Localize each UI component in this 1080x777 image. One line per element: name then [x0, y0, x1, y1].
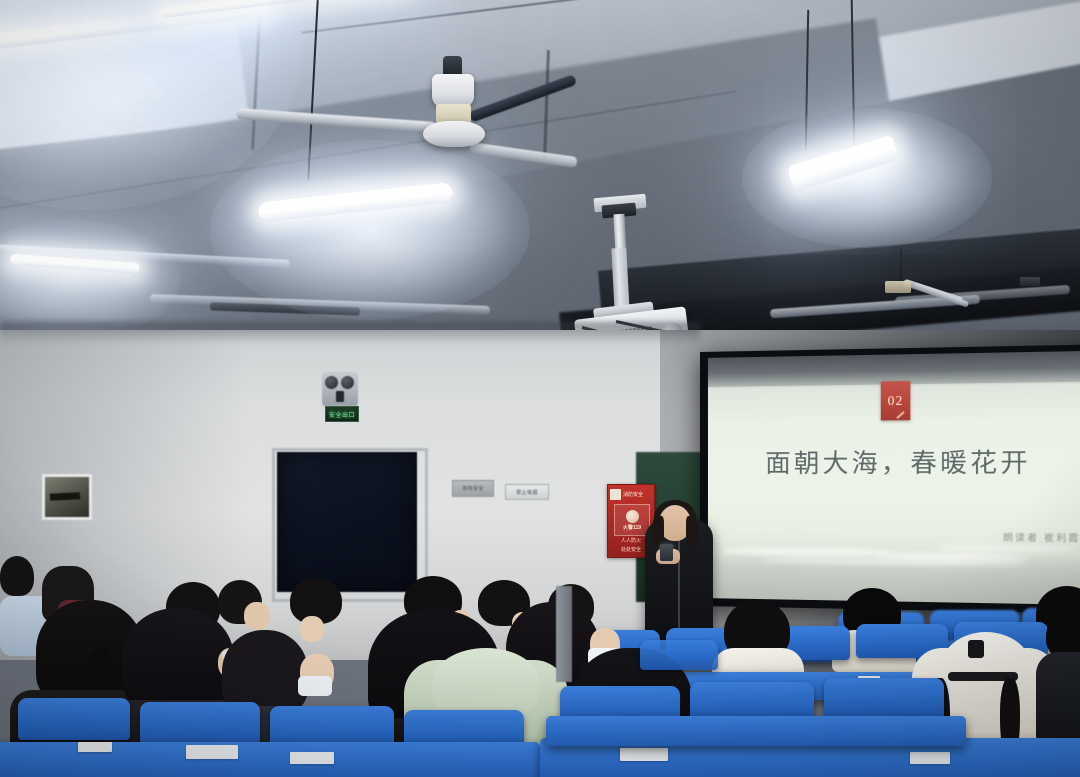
exit-sign-label: 安全出口: [329, 410, 355, 419]
person-torso: [1036, 652, 1080, 742]
poster-header-label: 消防安全: [623, 491, 643, 498]
chair-back[interactable]: [824, 678, 944, 718]
projection-screen-surface: 02 面朝大海，春暖花开 朗读者 崔利霞: [708, 351, 1080, 605]
ceiling-mount-bracket: [1020, 277, 1040, 286]
poster-slogan-1: 人人防火: [621, 537, 641, 544]
chair-back[interactable]: [18, 698, 130, 740]
poster-header: 消防安全: [610, 488, 652, 501]
wall-plaque-2-label: 禁止吸烟: [516, 489, 538, 496]
person-face: [300, 616, 324, 642]
emergency-lamp-right-icon: [341, 376, 354, 389]
presenter-smartphone: [660, 544, 673, 561]
slide-number-badge: 02: [881, 381, 911, 420]
face-mask: [298, 676, 332, 696]
desk-paper: [290, 752, 334, 764]
fan-hub: [423, 121, 485, 147]
projection-screen: 02 面朝大海，春暖花开 朗读者 崔利霞: [700, 344, 1080, 613]
person-hair: [0, 556, 34, 596]
lecture-hall-photo: 用电安全 禁止吸烟 安全出口 消防安全 火警119 人人防火 处处安全: [0, 0, 1080, 777]
fixture-housing: [885, 281, 911, 293]
emergency-lamp-left-icon: [325, 376, 338, 389]
wall-plaque-1: 用电安全: [452, 480, 494, 497]
person-face: [244, 602, 270, 630]
desk-paper: [910, 752, 950, 764]
slide-seascape-image: [708, 540, 1080, 605]
wall-plaque-1-label: 用电安全: [462, 485, 484, 492]
desk[interactable]: [546, 716, 966, 746]
desk-paper: [78, 742, 112, 752]
exit-sign: 安全出口: [325, 406, 359, 422]
support-pillar: [556, 586, 572, 682]
person-hood: [432, 648, 540, 718]
sea-wave: [723, 547, 896, 558]
hood-logo-icon: [968, 640, 984, 658]
poster-slogan-2: 处处安全: [621, 546, 641, 553]
classroom-door[interactable]: [277, 452, 417, 592]
chair-back[interactable]: [140, 702, 260, 744]
slide-title: 面朝大海，春暖花开: [708, 442, 1080, 480]
fire-icon: [626, 510, 639, 523]
wall-plaque-2: 禁止吸烟: [505, 484, 549, 500]
poster-emergency-number: 火警119: [623, 524, 641, 531]
presenter-hair-right: [686, 516, 698, 548]
desk-paper: [620, 748, 668, 761]
sea-wave: [934, 545, 1077, 554]
fan-motor-housing: [432, 74, 474, 108]
chair-back-front-presenter[interactable]: [640, 640, 718, 670]
slide-number-text: 02: [888, 393, 904, 410]
emergency-light-box: [322, 372, 358, 406]
poster-seal-icon: [610, 489, 621, 500]
wall-framed-plate: [42, 474, 92, 520]
emergency-box-button: [336, 391, 344, 402]
desk-paper: [186, 745, 238, 759]
poster-emergency-block: 火警119: [614, 504, 650, 536]
